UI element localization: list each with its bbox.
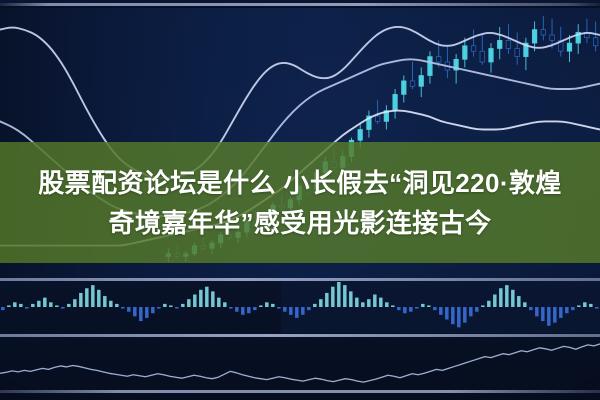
top-frame-shadow — [0, 6, 600, 8]
headline-line-2: 奇境嘉年华”感受用光影连接古今 — [108, 203, 491, 243]
headline-line-1: 股票配资论坛是什么 小长假去“洞见220·敦煌 — [38, 163, 561, 203]
headline-band: 股票配资论坛是什么 小长假去“洞见220·敦煌 奇境嘉年华”感受用光影连接古今 — [0, 142, 600, 263]
bottom-frame-line — [0, 390, 600, 393]
banner-root: 股票配资论坛是什么 小长假去“洞见220·敦煌 奇境嘉年华”感受用光影连接古今 — [0, 0, 600, 400]
panel-divider-lower — [0, 334, 600, 337]
panel-divider-upper — [0, 278, 600, 281]
